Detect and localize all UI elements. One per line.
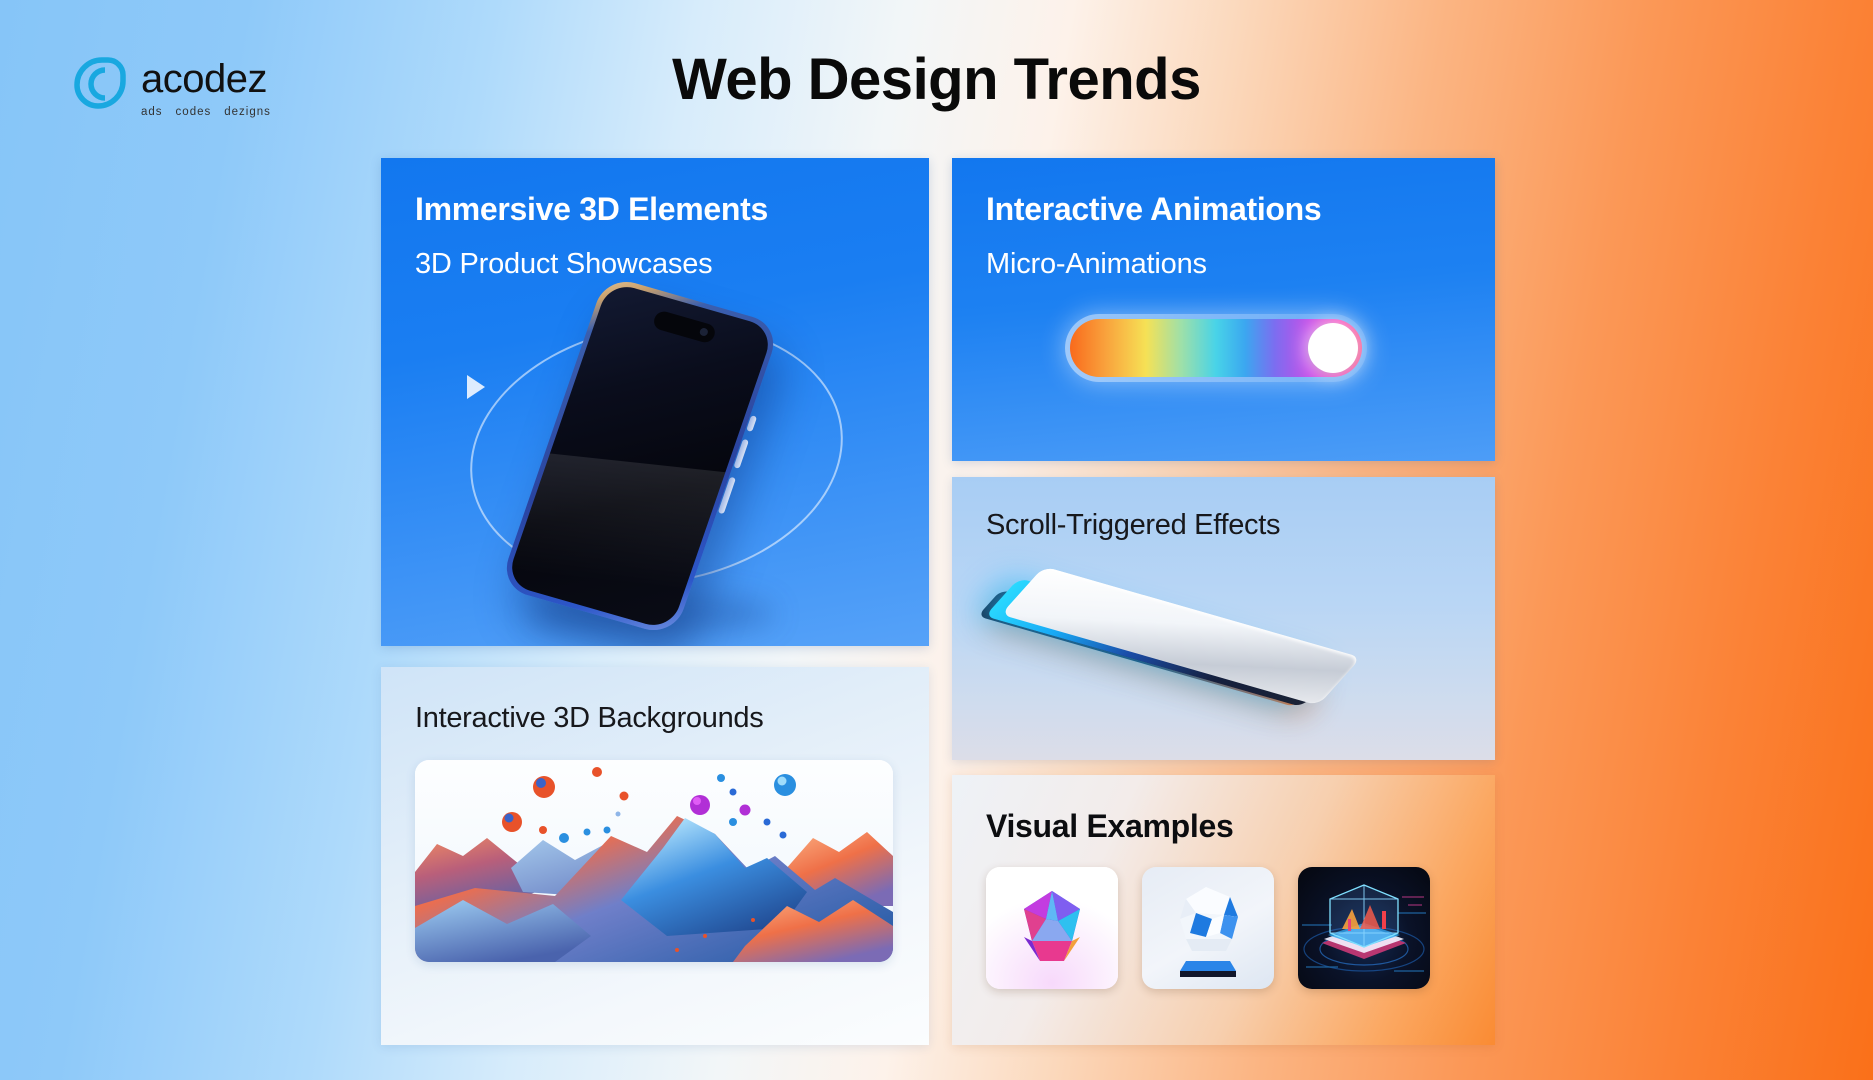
- glowing-3d-glass-slab: [952, 565, 1495, 760]
- card-scroll-triggered-effects[interactable]: Scroll-Triggered Effects: [952, 477, 1495, 760]
- rotation-arrow-icon: [467, 375, 485, 399]
- card-visual-examples[interactable]: Visual Examples: [952, 775, 1495, 1045]
- card-heading: Interactive Animations: [986, 191, 1321, 228]
- card-interactive-animations[interactable]: Interactive Animations Micro-Animations: [952, 158, 1495, 461]
- gradient-toggle-switch-stage: [952, 298, 1495, 428]
- gradient-toggle-switch[interactable]: [1065, 314, 1367, 382]
- rotating-3d-phone-mockup: [381, 263, 929, 646]
- phone-dynamic-island: [652, 309, 718, 344]
- card-interactive-3d-backgrounds[interactable]: Interactive 3D Backgrounds: [381, 667, 929, 1045]
- toggle-track: [1070, 319, 1362, 377]
- slab-group: [1001, 567, 1361, 706]
- visual-examples-thumbnail-row: [986, 867, 1430, 989]
- page-title: Web Design Trends: [0, 46, 1873, 113]
- 3d-mountain-landscape-with-floating-spheres: [415, 760, 893, 962]
- phone-screen: [505, 281, 775, 631]
- card-heading: Immersive 3D Elements: [415, 191, 768, 228]
- card-heading: Scroll-Triggered Effects: [986, 509, 1280, 542]
- low-poly-white-sculpture-thumbnail[interactable]: [1142, 867, 1274, 989]
- toggle-knob[interactable]: [1308, 323, 1358, 373]
- card-heading: Visual Examples: [986, 808, 1234, 845]
- iridescent-polyhedron-thumbnail[interactable]: [986, 867, 1118, 989]
- card-immersive-3d-elements[interactable]: Immersive 3D Elements 3D Product Showcas…: [381, 158, 929, 646]
- card-heading: Interactive 3D Backgrounds: [415, 702, 763, 735]
- neon-holographic-cube-thumbnail[interactable]: [1298, 867, 1430, 989]
- card-subheading: Micro-Animations: [986, 248, 1207, 281]
